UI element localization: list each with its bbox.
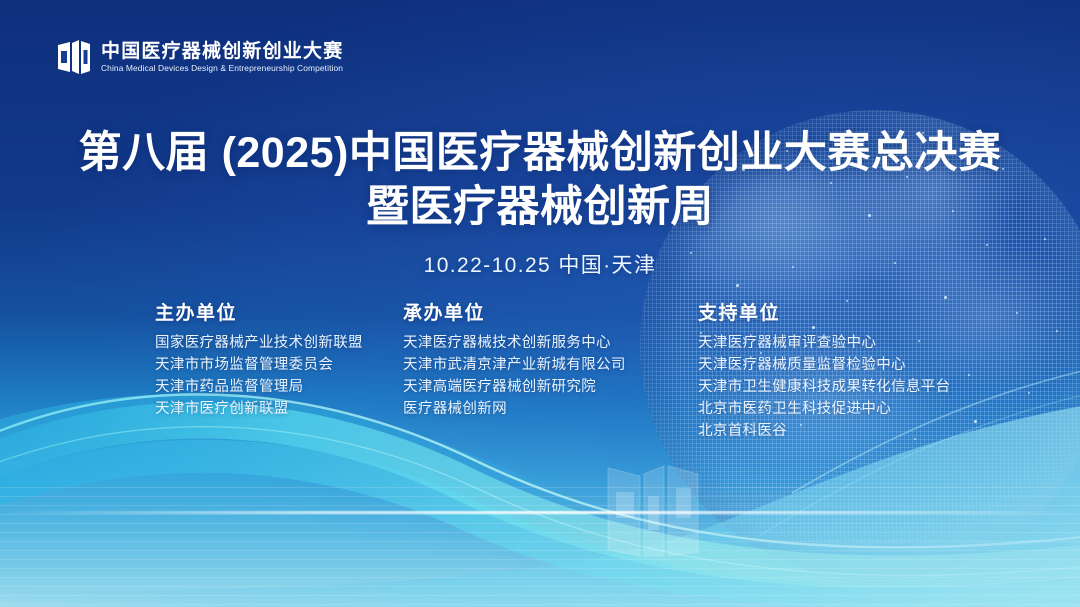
org-item: 国家医疗器械产业技术创新联盟 bbox=[155, 332, 363, 354]
org-item: 天津市卫生健康科技成果转化信息平台 bbox=[698, 376, 950, 398]
logo-name-cn: 中国医疗器械创新创业大赛 bbox=[101, 42, 346, 62]
org-item: 天津市医疗创新联盟 bbox=[155, 398, 363, 420]
org-heading: 主办单位 bbox=[155, 302, 363, 326]
bottom-stripe-lines bbox=[0, 487, 1080, 607]
org-item: 天津高端医疗器械创新研究院 bbox=[403, 376, 626, 398]
title-line-2: 暨医疗器械创新周 bbox=[0, 180, 1080, 234]
org-item: 天津医疗器械审评查验中心 bbox=[698, 332, 950, 354]
door-gate-watermark-graphic bbox=[586, 452, 718, 560]
org-column-host: 主办单位 国家医疗器械产业技术创新联盟 天津市市场监督管理委员会 天津市药品监督… bbox=[155, 302, 363, 420]
org-item: 天津市市场监督管理委员会 bbox=[155, 354, 363, 376]
org-column-organizer: 承办单位 天津医疗器械技术创新服务中心 天津市武清京津产业新城有限公司 天津高端… bbox=[403, 302, 626, 420]
org-item: 天津医疗器械质量监督检验中心 bbox=[698, 354, 950, 376]
organizations-section: 主办单位 国家医疗器械产业技术创新联盟 天津市市场监督管理委员会 天津市药品监督… bbox=[0, 302, 1080, 442]
org-item: 医疗器械创新网 bbox=[403, 398, 626, 420]
door-gate-logo-icon bbox=[56, 38, 92, 76]
org-item: 北京首科医谷 bbox=[698, 420, 950, 442]
org-column-supporter: 支持单位 天津医疗器械审评查验中心 天津医疗器械质量监督检验中心 天津市卫生健康… bbox=[698, 302, 950, 442]
org-heading: 承办单位 bbox=[403, 302, 626, 326]
logo-name-en: China Medical Devices Design & Entrepren… bbox=[101, 64, 343, 73]
org-item: 天津市武清京津产业新城有限公司 bbox=[403, 354, 626, 376]
event-date-location: 10.22-10.25 中国·天津 bbox=[0, 249, 1080, 279]
page-title: 第八届 (2025)中国医疗器械创新创业大赛总决赛 暨医疗器械创新周 bbox=[0, 126, 1080, 234]
org-item: 北京市医药卫生科技促进中心 bbox=[698, 398, 950, 420]
title-line-1: 第八届 (2025)中国医疗器械创新创业大赛总决赛 bbox=[0, 126, 1080, 180]
org-item: 天津医疗器械技术创新服务中心 bbox=[403, 332, 626, 354]
org-heading: 支持单位 bbox=[698, 302, 950, 326]
logo-wordmark: 中国医疗器械创新创业大赛 China Medical Devices Desig… bbox=[101, 42, 346, 73]
poster-canvas: 中国医疗器械创新创业大赛 China Medical Devices Desig… bbox=[0, 0, 1080, 607]
competition-logo: 中国医疗器械创新创业大赛 China Medical Devices Desig… bbox=[56, 38, 346, 76]
org-item: 天津市药品监督管理局 bbox=[155, 376, 363, 398]
